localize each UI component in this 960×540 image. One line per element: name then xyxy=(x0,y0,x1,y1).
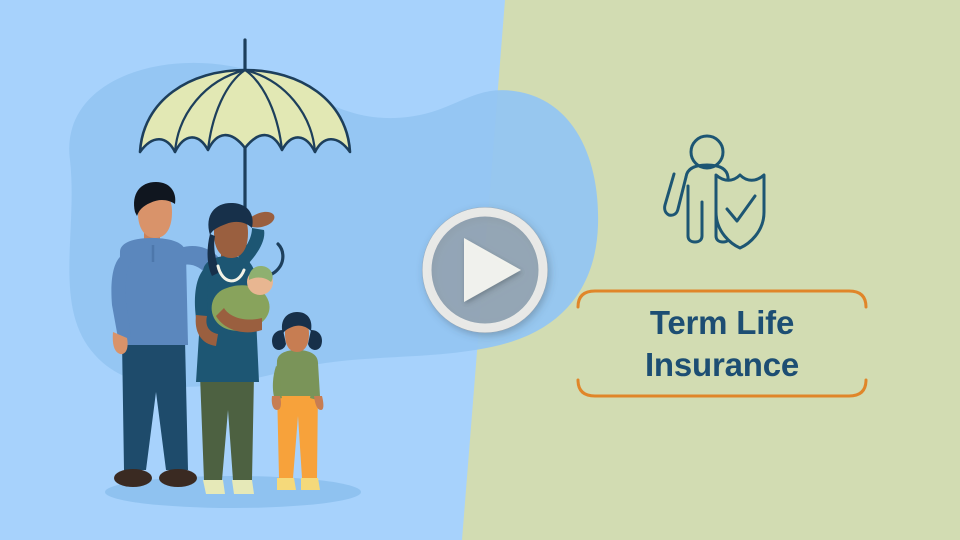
play-button-hit-area[interactable] xyxy=(421,206,549,334)
video-thumbnail: Term Life Insurance xyxy=(0,0,960,540)
